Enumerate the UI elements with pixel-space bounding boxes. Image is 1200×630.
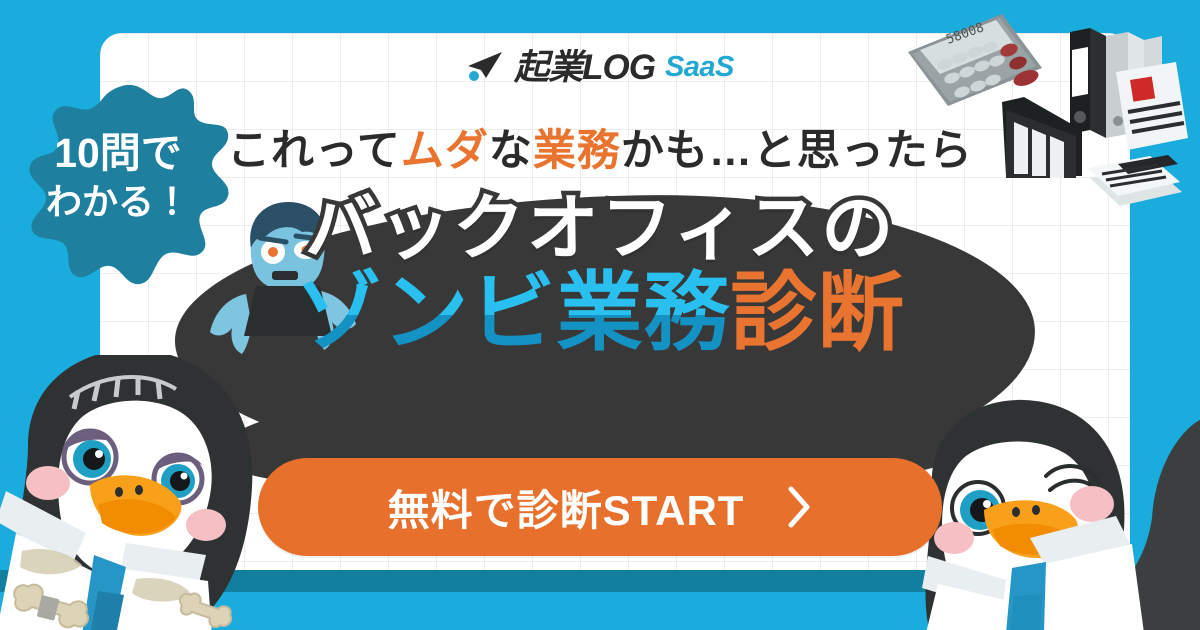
- title-zombie-gyomu: ゾンビ業務: [296, 265, 731, 361]
- cta-label: 無料で診断START: [388, 477, 745, 538]
- start-diagnosis-button[interactable]: 無料で診断START: [258, 458, 942, 556]
- catch-part2: な: [489, 127, 533, 175]
- catch-highlight-muda: ムダ: [401, 127, 489, 175]
- paper-plane-icon: [466, 50, 506, 84]
- promo-banner: 58008: [0, 0, 1200, 630]
- catch-part3: かも…と思ったら: [621, 127, 973, 175]
- catch-part1: これって: [227, 127, 401, 175]
- happy-penguin-character: [920, 398, 1200, 630]
- logo-sub-text: SaaS: [665, 53, 734, 82]
- logo-main-text: 起業LOG: [514, 50, 655, 85]
- title-shindan: 診断: [731, 265, 905, 361]
- ink-splat-badge: [2, 78, 242, 328]
- chevron-right-icon: [786, 485, 812, 529]
- catch-highlight-gyomu: 業務: [533, 127, 621, 175]
- zombie-penguin-character: [0, 355, 286, 630]
